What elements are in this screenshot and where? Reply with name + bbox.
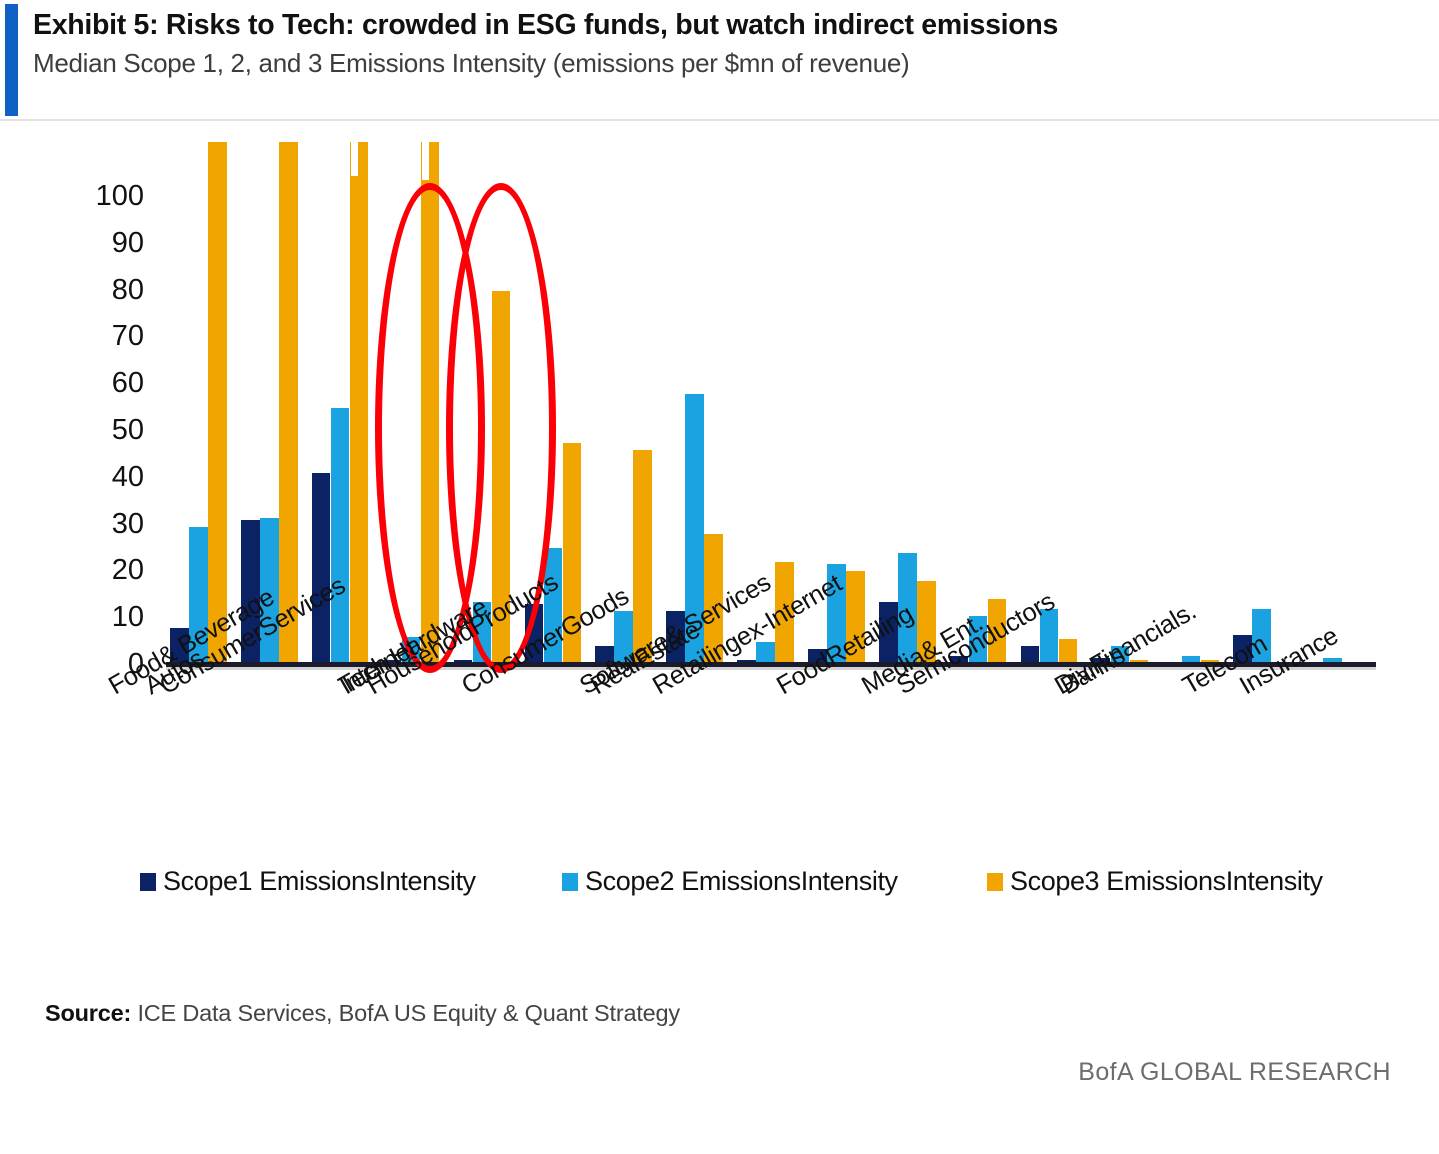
bar-2 (331, 408, 350, 665)
bar-group (1233, 140, 1290, 665)
bar-3 (208, 142, 227, 665)
bar-group (170, 140, 227, 665)
y-tick-label: 40 (66, 463, 144, 492)
bar-group (383, 140, 440, 665)
source-label: Source: (45, 1000, 131, 1026)
legend-label: Scope2 EmissionsIntensity (585, 866, 898, 897)
source-text: ICE Data Services, BofA US Equity & Quan… (131, 1000, 680, 1026)
bar-group (1092, 140, 1149, 665)
y-tick-label: 90 (66, 229, 144, 258)
bar-group (1304, 140, 1361, 665)
header-divider (0, 119, 1439, 121)
legend-item[interactable]: Scope2 EmissionsIntensity (562, 866, 898, 897)
page-subtitle: Median Scope 1, 2, and 3 Emissions Inten… (33, 47, 1413, 80)
bar-1 (312, 473, 331, 665)
bar-group (1021, 140, 1078, 665)
y-tick-label: 30 (66, 510, 144, 539)
bar-3 (279, 142, 298, 665)
legend-label: Scope1 EmissionsIntensity (163, 866, 476, 897)
y-tick-label: 60 (66, 369, 144, 398)
bar-3 (421, 142, 440, 665)
y-tick-label: 100 (66, 182, 144, 211)
x-axis-labels: AutosFood& BeverageConsumerServicesInter… (0, 668, 1439, 828)
legend-swatch-icon (987, 873, 1003, 891)
y-tick-label: 50 (66, 416, 144, 445)
legend-item[interactable]: Scope3 EmissionsIntensity (987, 866, 1323, 897)
legend-label: Scope3 EmissionsIntensity (1010, 866, 1323, 897)
y-axis: 0102030405060708090100 (14, 140, 144, 700)
bar-group (595, 140, 652, 665)
y-tick-label: 20 (66, 556, 144, 585)
bar-group (666, 140, 723, 665)
bar-group (950, 140, 1007, 665)
legend-swatch-icon (562, 873, 578, 891)
bar-group (1163, 140, 1220, 665)
source-note: Source: ICE Data Services, BofA US Equit… (45, 1000, 680, 1027)
bar-group (241, 140, 298, 665)
bar-clip-notch (422, 142, 429, 180)
legend-item[interactable]: Scope1 EmissionsIntensity (140, 866, 476, 897)
y-tick-label: 80 (66, 276, 144, 305)
brand-footer: BofA GLOBAL RESEARCH (1078, 1058, 1391, 1087)
page-title: Exhibit 5: Risks to Tech: crowded in ESG… (33, 8, 1413, 43)
y-tick-label: 70 (66, 322, 144, 351)
y-tick-label: 10 (66, 603, 144, 632)
bar-3 (350, 142, 369, 665)
bar-clip-notch (351, 142, 358, 176)
bar-group (879, 140, 936, 665)
exhibit-header: Exhibit 5: Risks to Tech: crowded in ESG… (33, 8, 1413, 79)
legend-swatch-icon (140, 873, 156, 891)
bar-group (454, 140, 511, 665)
left-accent-bar (5, 4, 18, 116)
chart-legend: Scope1 EmissionsIntensityScope2 Emission… (0, 866, 1439, 910)
